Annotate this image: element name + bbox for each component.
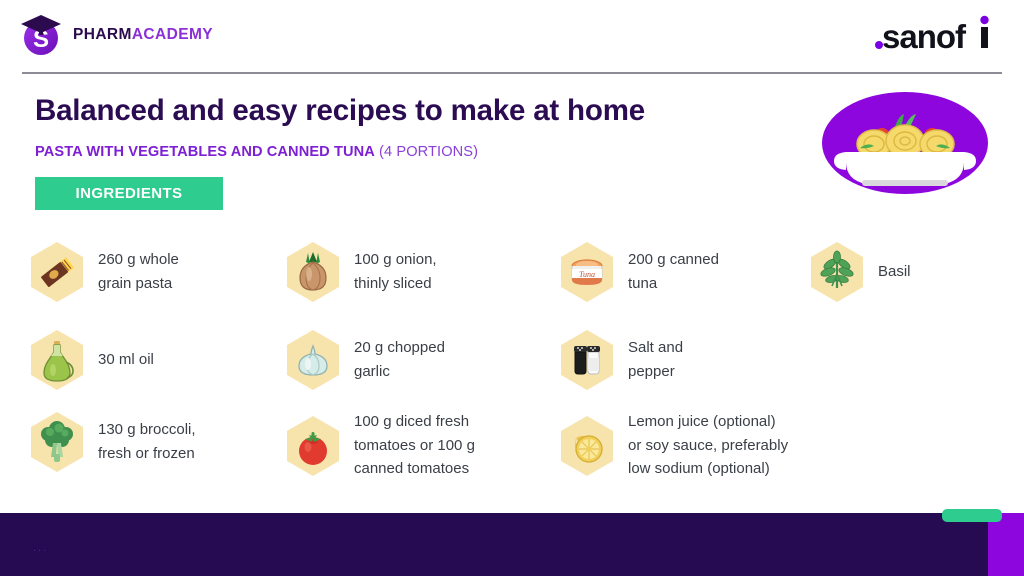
ingredients-badge-label: INGREDIENTS	[76, 185, 183, 202]
sanofi-logo-icon: sanof	[872, 14, 1002, 54]
salt-pepper-shaker-icon	[558, 328, 616, 392]
brand-name-part2: ACADEMY	[132, 26, 213, 43]
ingredient-text: Lemon juice (optional) or soy sauce, pre…	[628, 410, 788, 481]
brand-name-part1: PHARM	[73, 26, 132, 43]
ingredient-item: 260 g whole grain pasta	[28, 240, 179, 304]
page-title: Balanced and easy recipes to make at hom…	[35, 94, 645, 128]
broccoli-icon	[28, 410, 86, 474]
ingredient-text: 130 g broccoli, fresh or frozen	[98, 418, 196, 465]
footer-bar	[0, 513, 1024, 576]
ingredient-text: 30 ml oil	[98, 348, 154, 372]
ingredient-text: 200 g canned tuna	[628, 248, 719, 295]
pasta-bowl-illustration-icon	[822, 92, 988, 194]
ingredient-text: 260 g whole grain pasta	[98, 248, 179, 295]
green-accent-bar-icon	[942, 509, 1002, 522]
ingredient-text: Basil	[878, 260, 911, 284]
tuna-label: Tuna	[579, 270, 595, 279]
garlic-icon	[284, 328, 342, 392]
ingredient-text: 20 g chopped garlic	[354, 336, 445, 383]
header: S PHARMACADEMY sanof	[0, 0, 1024, 72]
recipe-portions: (4 PORTIONS)	[379, 144, 478, 160]
recipe-subtitle: PASTA WITH VEGETABLES AND CANNED TUNA (4…	[35, 144, 478, 160]
header-divider	[22, 72, 1002, 74]
ingredient-text: Salt and pepper	[628, 336, 683, 383]
ingredient-item: Tuna 200 g canned tuna	[558, 240, 719, 304]
ingredient-item: 30 ml oil	[28, 328, 154, 392]
ingredient-text: 100 g diced fresh tomatoes or 100 g cann…	[354, 410, 475, 481]
brand-name: PHARMACADEMY	[73, 26, 213, 44]
canned-tuna-icon: Tuna	[558, 240, 616, 304]
ingredient-item: 130 g broccoli, fresh or frozen	[28, 410, 196, 474]
basil-icon	[808, 240, 866, 304]
lemon-icon	[558, 414, 616, 478]
ingredient-item: 100 g diced fresh tomatoes or 100 g cann…	[284, 410, 475, 481]
ingredient-item: 100 g onion, thinly sliced	[284, 240, 437, 304]
ingredient-text: 100 g onion, thinly sliced	[354, 248, 437, 295]
ingredient-item: 20 g chopped garlic	[284, 328, 445, 392]
oil-bottle-icon	[28, 328, 86, 392]
svg-text:sanof: sanof	[882, 18, 967, 54]
pharmacademy-logo-icon: S	[18, 12, 64, 58]
slide: S PHARMACADEMY sanof Balanced and easy r…	[0, 0, 1024, 576]
ingredient-item: Basil	[808, 240, 911, 304]
footer-dots: ...	[33, 542, 48, 554]
onion-icon	[284, 240, 342, 304]
ingredients-badge: INGREDIENTS	[35, 177, 223, 210]
tomato-icon	[284, 414, 342, 478]
ingredient-item: Salt and pepper	[558, 328, 683, 392]
recipe-name: PASTA WITH VEGETABLES AND CANNED TUNA	[35, 144, 375, 160]
ingredient-item: Lemon juice (optional) or soy sauce, pre…	[558, 410, 788, 481]
pasta-package-icon	[28, 240, 86, 304]
purple-accent-block-icon	[988, 513, 1024, 576]
brand-logo: S PHARMACADEMY	[18, 12, 213, 58]
